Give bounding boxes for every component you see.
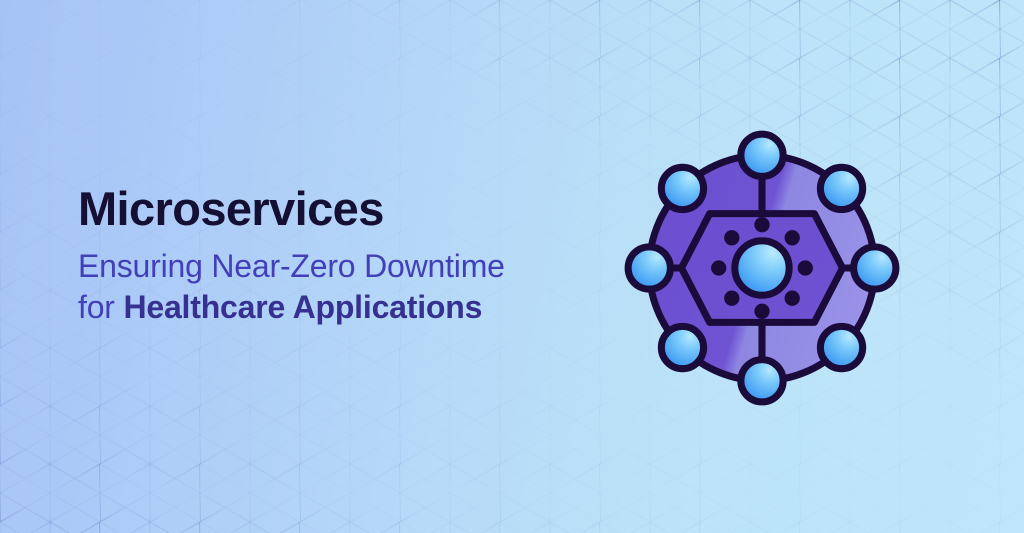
dot-nw (724, 230, 739, 245)
headline-block: Microservices Ensuring Near-Zero Downtim… (78, 184, 598, 329)
subtitle-line-2-prefix: for (78, 289, 123, 325)
node-right (854, 247, 896, 289)
subtitle-line-2-emphasis: Healthcare Applications (123, 289, 482, 325)
dot-sw (724, 291, 739, 306)
node-bottom (741, 360, 783, 402)
node-top (741, 134, 783, 176)
node-left (628, 247, 670, 289)
dot-se (785, 291, 800, 306)
subtitle-line-2: for Healthcare Applications (78, 287, 598, 329)
dot-s (754, 304, 769, 319)
node-top-left (661, 167, 703, 209)
dot-ne (785, 230, 800, 245)
core-service-node (735, 241, 789, 295)
subtitle-line-1: Ensuring Near-Zero Downtime (78, 246, 598, 288)
node-top-right (820, 167, 862, 209)
dot-e (798, 260, 813, 275)
dot-w (711, 260, 726, 275)
page-title: Microservices (78, 184, 598, 234)
node-bottom-right (820, 326, 862, 368)
microservices-banner: Microservices Ensuring Near-Zero Downtim… (0, 0, 1024, 533)
subtitle: Ensuring Near-Zero Downtime for Healthca… (78, 246, 598, 329)
microservices-architecture-icon (612, 118, 912, 418)
node-bottom-left (661, 326, 703, 368)
dot-n (754, 217, 769, 232)
